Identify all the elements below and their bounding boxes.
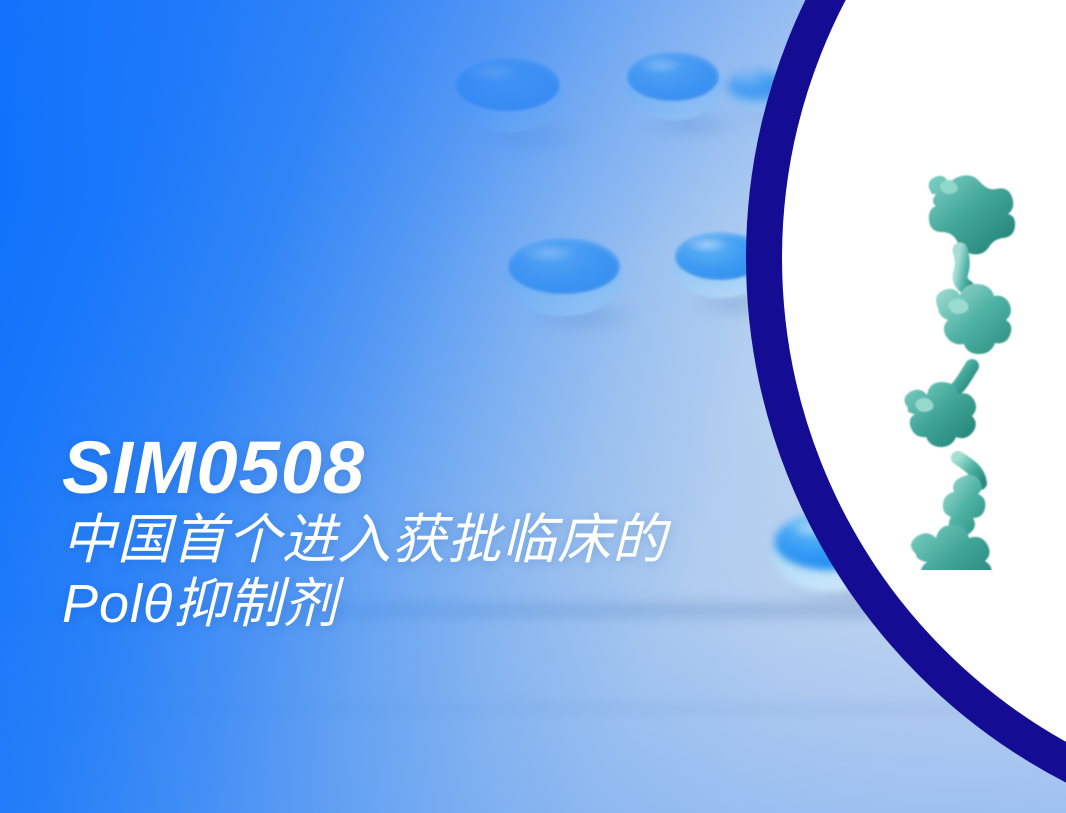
subtitle-line-1: 中国首个进入获批临床的 xyxy=(62,509,882,573)
product-subtitle: 中国首个进入获批临床的 Polθ抑制剂 xyxy=(62,509,882,636)
headline-block: SIM0508 中国首个进入获批临床的 Polθ抑制剂 xyxy=(62,430,882,637)
sim0508-product-banner: SIM0508 中国首个进入获批临床的 Polθ抑制剂 xyxy=(0,0,1066,813)
product-code-title: SIM0508 xyxy=(62,430,882,505)
subtitle-line-2: Polθ抑制剂 xyxy=(62,573,882,637)
protein-structure-icon xyxy=(886,158,1066,570)
